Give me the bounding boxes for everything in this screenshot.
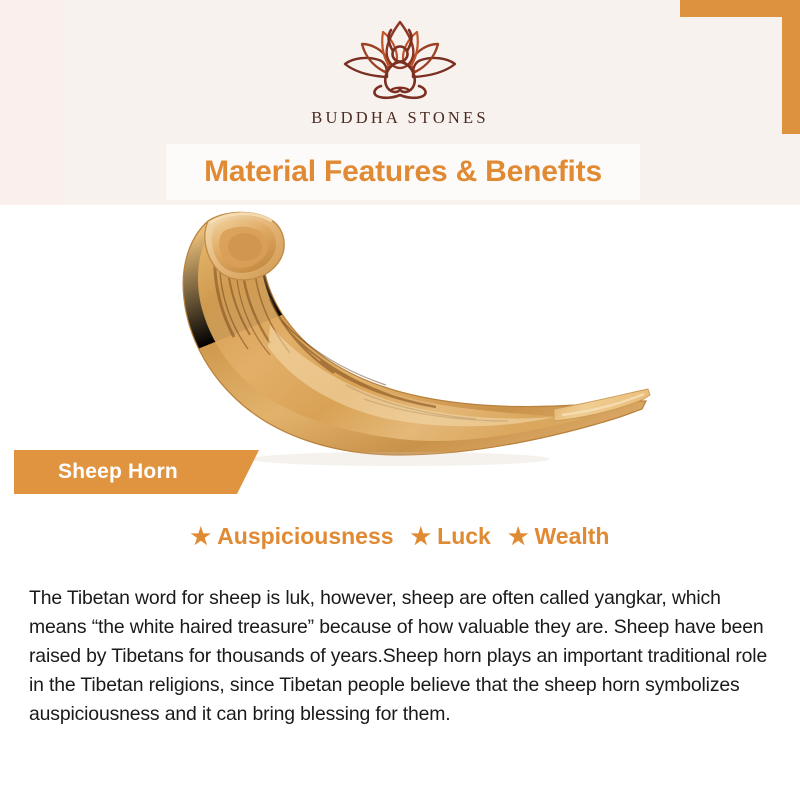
benefit-label: Luck (437, 523, 491, 550)
benefit-label: Wealth (534, 523, 609, 550)
benefits-row: ★ Auspiciousness ★ Luck ★ Wealth (0, 523, 800, 550)
benefit-label: Auspiciousness (217, 523, 393, 550)
page-title: Material Features & Benefits (204, 155, 602, 189)
frame-edge-right (782, 0, 800, 134)
star-icon: ★ (411, 525, 432, 548)
title-panel: Material Features & Benefits (166, 144, 640, 200)
description-paragraph: The Tibetan word for sheep is luk, howev… (29, 584, 774, 729)
benefit-luck: ★ Luck (411, 523, 491, 550)
benefit-auspiciousness: ★ Auspiciousness (191, 523, 394, 550)
product-label-banner: Sheep Horn (14, 450, 259, 494)
star-icon: ★ (508, 525, 529, 548)
brand-name: BUDDHA STONES (0, 108, 800, 128)
benefit-wealth: ★ Wealth (508, 523, 610, 550)
brand-logo: BUDDHA STONES (0, 14, 800, 128)
lotus-meditation-figure-icon (325, 14, 475, 106)
star-icon: ★ (191, 525, 212, 548)
product-label-text: Sheep Horn (58, 460, 178, 484)
infographic-page: BUDDHA STONES Material Features & Benefi… (0, 0, 800, 800)
description-section: ★ Auspiciousness ★ Luck ★ Wealth The Tib… (0, 510, 800, 800)
